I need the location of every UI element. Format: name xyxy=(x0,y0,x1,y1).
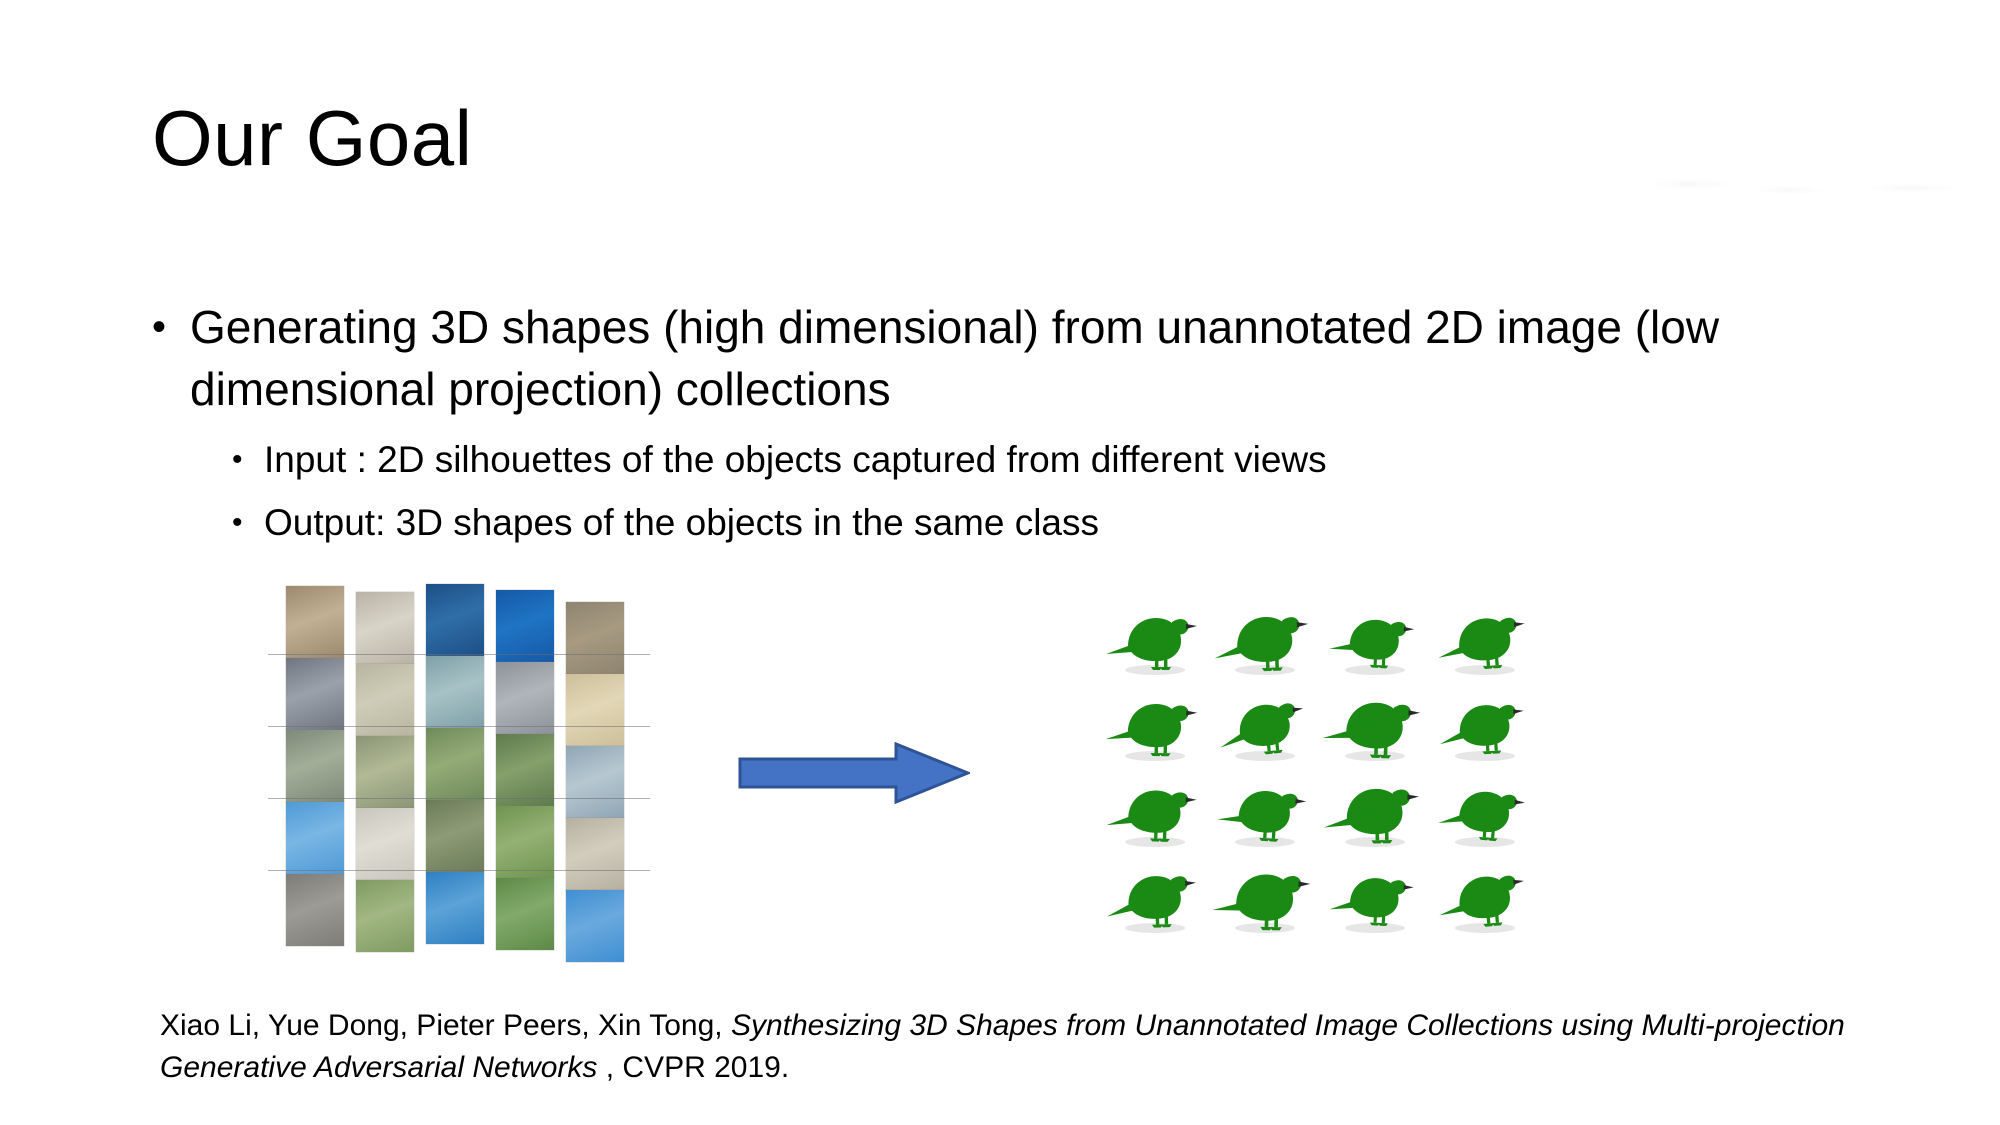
photo-tile xyxy=(286,658,344,730)
photo-tile xyxy=(426,584,484,656)
photo-tile xyxy=(286,874,344,946)
citation-text: Xiao Li, Yue Dong, Pieter Peers, Xin Ton… xyxy=(160,1005,1860,1089)
presentation-slide: Our Goal • Generating 3D shapes (high di… xyxy=(0,0,2000,1125)
photo-tile xyxy=(566,890,624,962)
bird-3d-shape xyxy=(1208,682,1318,768)
main-bullet-label: Generating 3D shapes (high dimensional) … xyxy=(190,301,1719,415)
photo-tile xyxy=(496,590,554,662)
photo-tile xyxy=(496,734,554,806)
bird-3d-shape xyxy=(1318,682,1428,768)
photo-tile xyxy=(426,656,484,728)
photo-tile xyxy=(356,880,414,952)
photo-tile xyxy=(496,662,554,734)
bird-3d-shape xyxy=(1098,768,1208,854)
bird-3d-shape xyxy=(1208,854,1318,940)
bird-3d-shape xyxy=(1208,768,1318,854)
photo-tile xyxy=(566,674,624,746)
page-title: Our Goal xyxy=(152,98,472,180)
bird-3d-shape-grid xyxy=(1098,596,1538,938)
photo-column xyxy=(426,590,484,948)
photo-column xyxy=(496,590,554,948)
photo-tile xyxy=(426,872,484,944)
sub-bullet-label-output: Output: 3D shapes of the objects in the … xyxy=(264,502,1099,543)
bird-3d-shape xyxy=(1098,682,1208,768)
bird-3d-shape xyxy=(1428,768,1538,854)
photo-tile xyxy=(426,728,484,800)
photo-tile xyxy=(496,806,554,878)
photo-tile xyxy=(286,802,344,874)
citation-venue: , CVPR 2019. xyxy=(597,1051,789,1084)
sub-bullet-item-input: • Input : 2D silhouettes of the objects … xyxy=(230,428,1908,491)
bird-3d-shape xyxy=(1098,596,1208,682)
mosaic-gridline xyxy=(268,870,650,871)
transform-arrow xyxy=(738,742,970,804)
sub-bullet-label-input: Input : 2D silhouettes of the objects ca… xyxy=(264,439,1327,480)
citation-authors: Xiao Li, Yue Dong, Pieter Peers, Xin Ton… xyxy=(160,1009,731,1042)
photo-tile xyxy=(426,800,484,872)
photo-column xyxy=(566,590,624,948)
mosaic-gridline xyxy=(268,654,650,655)
bird-3d-shape xyxy=(1098,854,1208,940)
bird-3d-shape xyxy=(1428,596,1538,682)
mosaic-gridline xyxy=(268,798,650,799)
sub-bullet-item-output: • Output: 3D shapes of the objects in th… xyxy=(230,491,1908,554)
photo-tile xyxy=(286,586,344,658)
sub-bullet-list: • Input : 2D silhouettes of the objects … xyxy=(148,428,1908,554)
bird-3d-shape xyxy=(1428,682,1538,768)
bullet-marker-icon: • xyxy=(232,428,243,491)
bullet-marker-icon: • xyxy=(152,296,166,358)
photo-tile xyxy=(286,730,344,802)
body-text-block: • Generating 3D shapes (high dimensional… xyxy=(148,296,1908,554)
photo-column xyxy=(356,590,414,948)
bird-3d-shape xyxy=(1428,854,1538,940)
photo-column xyxy=(286,590,344,948)
bird-3d-shape xyxy=(1318,854,1428,940)
main-bullet-item: • Generating 3D shapes (high dimensional… xyxy=(148,296,1908,420)
bird-3d-shape xyxy=(1318,596,1428,682)
photo-tile xyxy=(566,746,624,818)
photo-tile xyxy=(566,602,624,674)
bullet-marker-icon: • xyxy=(232,491,243,554)
photo-tile xyxy=(566,818,624,890)
faint-watermark-artifact xyxy=(1570,160,1970,200)
bird-photo-mosaic xyxy=(286,590,632,948)
photo-tile xyxy=(496,878,554,950)
mosaic-gridline xyxy=(268,726,650,727)
bird-3d-shape xyxy=(1208,596,1318,682)
bird-3d-shape xyxy=(1318,768,1428,854)
